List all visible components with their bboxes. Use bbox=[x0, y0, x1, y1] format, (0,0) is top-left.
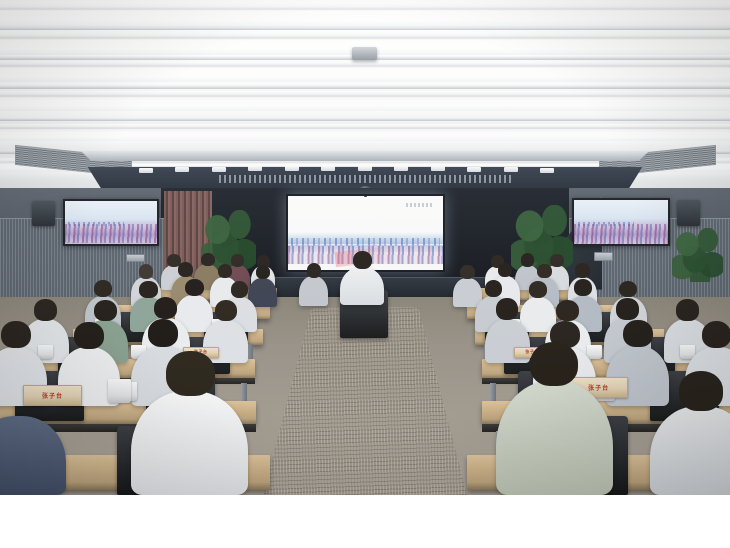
right-wall-speaker-icon bbox=[677, 200, 700, 226]
spotlight bbox=[139, 168, 153, 173]
attendee-head bbox=[154, 297, 177, 319]
right-wall-sign bbox=[594, 252, 613, 261]
ceiling-projector-icon bbox=[352, 47, 377, 60]
spotlight bbox=[285, 166, 299, 171]
spotlight bbox=[358, 166, 372, 171]
attendee-head bbox=[676, 299, 699, 320]
spotlight bbox=[175, 167, 189, 172]
attendee-head bbox=[231, 281, 249, 298]
ceiling-light-strip bbox=[0, 12, 730, 27]
attendee-head bbox=[74, 322, 103, 349]
mug bbox=[38, 345, 53, 359]
mug bbox=[108, 379, 131, 403]
left-led-display[interactable] bbox=[63, 199, 159, 246]
presenter-head bbox=[353, 251, 372, 269]
ceiling-light-strip bbox=[0, 132, 730, 141]
lighting-truss bbox=[219, 175, 511, 183]
attendee-head bbox=[94, 280, 112, 297]
attendee-head bbox=[575, 263, 590, 277]
spotlight bbox=[540, 168, 554, 173]
attendee-head bbox=[623, 320, 652, 348]
mug bbox=[587, 345, 602, 359]
attendee-head bbox=[616, 298, 639, 320]
soffit-lip bbox=[80, 150, 649, 161]
attendee-head bbox=[556, 300, 579, 321]
spotlight bbox=[212, 167, 226, 172]
presenter-front-row bbox=[340, 267, 384, 305]
left-wall-speaker-icon bbox=[32, 201, 55, 226]
attendee-head bbox=[537, 264, 552, 278]
ceiling-light-strip bbox=[0, 100, 730, 111]
attendee-head bbox=[34, 299, 57, 321]
conference-room-photograph: 张子台 张子台 张子台 张子台 bbox=[0, 0, 730, 495]
photo-canvas: 张子台 张子台 张子台 张子台 bbox=[0, 0, 730, 548]
right-led-display[interactable] bbox=[572, 198, 670, 246]
spotlight bbox=[321, 166, 335, 171]
attendee-head bbox=[550, 254, 564, 267]
attendee-head bbox=[307, 263, 322, 277]
attendee-head bbox=[166, 351, 214, 396]
screen-watermark bbox=[406, 203, 434, 207]
attendee-head bbox=[530, 342, 578, 387]
attendee-head bbox=[256, 265, 271, 279]
attendee-head bbox=[139, 264, 154, 278]
spotlight bbox=[431, 166, 445, 171]
spotlight bbox=[248, 166, 262, 171]
attendee-head bbox=[1, 321, 30, 349]
attendee-head bbox=[498, 263, 513, 277]
plant-far-right bbox=[672, 228, 723, 282]
attendee-head bbox=[521, 253, 535, 266]
attendee-head bbox=[529, 281, 547, 298]
name-placard: 张子台 bbox=[23, 385, 81, 406]
attendee-foreground-left bbox=[131, 391, 248, 495]
attendee-head bbox=[94, 300, 117, 321]
attendee-head bbox=[485, 280, 503, 297]
attendee-head bbox=[185, 279, 204, 297]
attendee-head bbox=[496, 298, 518, 320]
attendee-head bbox=[148, 319, 178, 347]
attendee-head bbox=[574, 279, 592, 296]
attendee-head bbox=[218, 264, 233, 278]
attendee-foreground-right bbox=[496, 381, 613, 495]
attendee-head bbox=[679, 371, 723, 411]
attendee-head bbox=[460, 265, 475, 279]
attendee bbox=[453, 278, 481, 307]
attendee-head bbox=[215, 300, 237, 321]
spotlight bbox=[394, 166, 408, 171]
attendee-head bbox=[201, 253, 215, 266]
attendee-head bbox=[178, 262, 193, 277]
attendee bbox=[299, 276, 328, 306]
spotlight bbox=[504, 167, 518, 172]
attendee-head bbox=[702, 321, 730, 348]
attendee-head bbox=[139, 281, 157, 298]
left-wall-sign bbox=[126, 254, 145, 262]
spotlight bbox=[467, 167, 481, 172]
attendee-head bbox=[619, 281, 637, 298]
attendee-head bbox=[231, 254, 244, 267]
ceiling-light-strip bbox=[0, 70, 730, 82]
